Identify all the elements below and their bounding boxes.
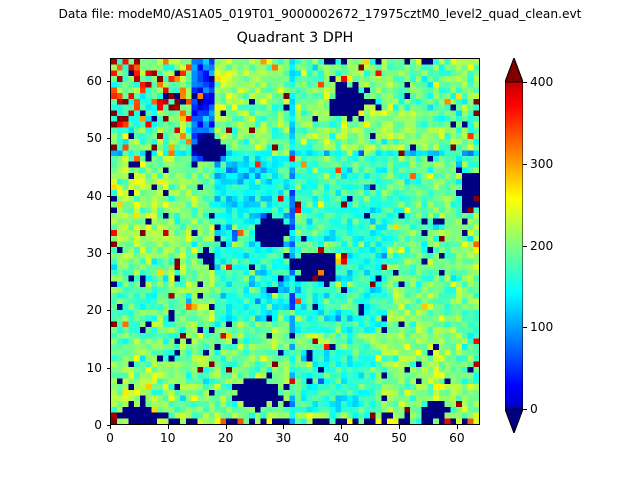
x-tick-mark [283,425,284,429]
y-tick-label: 60 [64,74,102,88]
x-tick-mark [110,425,111,429]
colorbar-tick-label: 100 [530,320,553,334]
x-tick-mark [226,425,227,429]
colorbar-tick-label: 300 [530,157,553,171]
y-tick-label: 50 [64,131,102,145]
colorbar-tick-mark [523,164,527,165]
colorbar-tick-mark [523,246,527,247]
x-tick-mark [457,425,458,429]
y-tick-mark [107,81,111,82]
x-tick-label: 10 [160,431,176,445]
colorbar-tick-mark [523,327,527,328]
colorbar-gradient [505,58,523,433]
y-tick-mark [107,196,111,197]
data-file-suptitle: Data file: modeM0/AS1A05_019T01_90000026… [0,7,640,21]
plot-title: Quadrant 3 DPH [110,30,480,46]
x-tick-label: 30 [276,431,292,445]
y-tick-mark [107,138,111,139]
colorbar-tick-label: 200 [530,239,553,253]
colorbar-tick-mark [523,82,527,83]
y-tick-mark [107,310,111,311]
heatmap-axes [110,58,480,425]
y-tick-mark [107,425,111,426]
dph-heatmap-image [111,59,479,424]
x-tick-label: 20 [218,431,234,445]
y-tick-mark [107,253,111,254]
x-tick-mark [341,425,342,429]
x-tick-label: 60 [449,431,465,445]
y-tick-label: 40 [64,189,102,203]
matplotlib-figure: Data file: modeM0/AS1A05_019T01_90000026… [0,0,640,480]
y-tick-label: 20 [64,303,102,317]
x-tick-mark [399,425,400,429]
x-tick-label: 40 [333,431,349,445]
y-tick-label: 30 [64,246,102,260]
x-tick-label: 0 [106,431,114,445]
y-tick-label: 0 [64,418,102,432]
colorbar-tick-label: 400 [530,75,553,89]
colorbar-tick-label: 0 [530,402,538,416]
colorbar [505,58,523,432]
x-tick-label: 50 [391,431,407,445]
y-tick-label: 10 [64,361,102,375]
y-tick-mark [107,368,111,369]
colorbar-tick-mark [523,409,527,410]
x-tick-mark [168,425,169,429]
